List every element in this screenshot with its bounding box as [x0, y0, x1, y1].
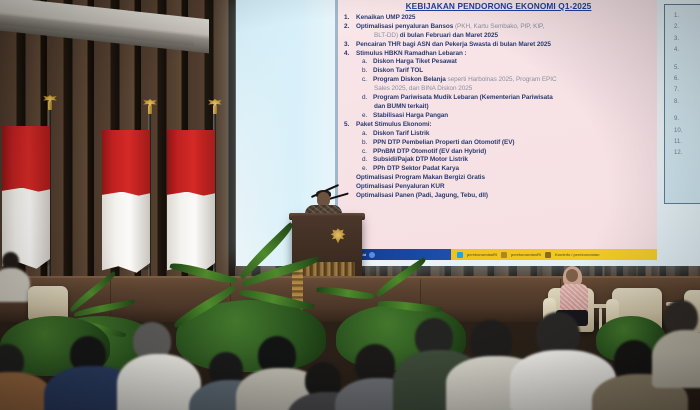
slide-sublist-continuation: dan BUMN terkait)	[344, 103, 653, 112]
youtube-handle: Kominfo / perekonomian	[555, 252, 600, 257]
flag-finial-icon	[143, 99, 157, 114]
side-number: 12.	[674, 148, 700, 159]
slide-list-item: 1. Kenaikan UMP 2025	[344, 14, 653, 23]
attendee-shoulders	[117, 354, 201, 410]
photo-scene: KEBIJAKAN PENDORONG EKONOMI Q1-2025 1. K…	[0, 0, 700, 410]
flag-cloth	[167, 130, 215, 270]
sublist-letter: a.	[362, 130, 373, 139]
instagram-handle: perekonomianRI	[511, 252, 541, 257]
sublist-letter: d.	[362, 94, 373, 103]
flag-white-band	[102, 192, 150, 273]
presentation-slide: KEBIJAKAN PENDORONG EKONOMI Q1-2025 1. K…	[335, 0, 657, 249]
attendee-shoulders	[0, 268, 30, 302]
slide-list-item: 2. Optimalisasi penyaluran Bansos (PKH, …	[344, 23, 653, 32]
side-number: 3.	[674, 34, 700, 45]
sublist-text: PPh DTP Sektor Padat Karya	[373, 165, 653, 174]
sublist-text: Subsidi/Pajak DTP Motor Listrik	[373, 156, 653, 165]
slide-title: KEBIJAKAN PENDORONG EKONOMI Q1-2025	[344, 2, 653, 11]
slide-trailing-line: Optimalisasi Penyaluran KUR	[344, 183, 653, 192]
slide-footer-yellow: perekonomianRI perekonomianRI Kominfo / …	[451, 249, 657, 260]
slide-sublist-item: a. Diskon Tarif Listrik	[344, 130, 653, 139]
flag-white-band	[167, 192, 215, 273]
instagram-icon	[501, 252, 507, 258]
twitter-icon	[457, 252, 463, 258]
list-text: Kenaikan UMP 2025	[356, 14, 653, 23]
slide-trailing-line: Optimalisasi Program Makan Bergizi Grati…	[344, 174, 653, 183]
sublist-letter: b.	[362, 67, 373, 76]
side-number: 7.	[674, 85, 700, 96]
side-number: 8.	[674, 97, 700, 108]
youtube-icon	[545, 252, 551, 258]
seated-person-head	[566, 269, 578, 282]
list-text: Optimalisasi penyaluran Bansos	[356, 23, 453, 30]
sublist-letter: c.	[362, 148, 373, 157]
sublist-letter: e.	[362, 112, 373, 121]
list-text-muted: (PKH, Kartu Sembako, PIP, KIP,	[455, 23, 544, 30]
flag-cloth	[102, 130, 150, 270]
sublist-letter: d.	[362, 156, 373, 165]
slide-sublist-item: e. PPh DTP Sektor Padat Karya	[344, 165, 653, 174]
slide-list-continuation: BLT-DD) di bulan Februari dan Maret 2025	[344, 32, 653, 41]
slide-sublist-continuation: Sales 2025, dan BINA Diskon 2025	[344, 85, 653, 94]
slide-list-item: 4. Stimulus HBKN Ramadhan Lebaran :	[344, 50, 653, 59]
slide-list-item: 5. Paket Stimulus Ekonomi:	[344, 121, 653, 130]
list-number: 3.	[344, 41, 356, 50]
flag-finial-icon	[43, 95, 57, 110]
flag-red-band	[2, 126, 50, 192]
slide-footer-bar: ekon.go.id perekonomianRI perekonomianRI…	[335, 249, 657, 260]
list-number: 4.	[344, 50, 356, 59]
sublist-text: Diskon Harga Tiket Pesawat	[373, 58, 653, 67]
attendee-head	[664, 300, 698, 334]
slide-sublist-item: b. Diskon Tarif TOL	[344, 67, 653, 76]
slide-sublist-item: d. Subsidi/Pajak DTP Motor Listrik	[344, 156, 653, 165]
slide-sublist-item: c. PPnBM DTP Otomotif (EV dan Hybrid)	[344, 148, 653, 157]
sublist-text-muted: seperti Harbolnas 2025, Program EPIC	[448, 76, 557, 83]
slide-sublist-item: b. PPN DTP Pembelian Properti dan Otomot…	[344, 139, 653, 148]
sublist-text-muted: Sales 2025, dan BINA Diskon 2025	[374, 85, 472, 92]
side-number: 5.	[674, 63, 700, 74]
side-number: 2.	[674, 22, 700, 33]
side-number: 9.	[674, 114, 700, 125]
list-text-muted: BLT-DD)	[374, 32, 398, 39]
list-text: Pencairan THR bagi ASN dan Pekerja Swast…	[356, 41, 653, 50]
sublist-text: PPN DTP Pembelian Properti dan Otomotif …	[373, 139, 653, 148]
slide-list-item: 3. Pencairan THR bagi ASN dan Pekerja Sw…	[344, 41, 653, 50]
slide-sublist-item: c. Program Diskon Belanja seperti Harbol…	[344, 76, 653, 85]
list-number: 5.	[344, 121, 356, 130]
side-number: 4.	[674, 45, 700, 56]
slide-sublist-item: a. Diskon Harga Tiket Pesawat	[344, 58, 653, 67]
slide-side-number-panel: 1. 2. 3. 4. 5. 6. 7. 8. 9. 10. 11. 12.	[664, 4, 700, 204]
sublist-text: PPnBM DTP Otomotif (EV dan Hybrid)	[373, 148, 653, 157]
slide-trailing-line: Optimalisasi Panen (Padi, Jagung, Tebu, …	[344, 192, 653, 201]
list-number: 2.	[344, 23, 356, 32]
list-number: 1.	[344, 14, 356, 23]
list-text: di bulan Februari dan Maret 2025	[400, 32, 498, 39]
list-text: Stimulus HBKN Ramadhan Lebaran :	[356, 50, 653, 59]
sublist-text: Program Pariwisata Mudik Lebaran (Kement…	[373, 94, 653, 103]
side-number: 11.	[674, 137, 700, 148]
sublist-letter: a.	[362, 58, 373, 67]
side-number: 6.	[674, 74, 700, 85]
slide-sublist-item: e. Stabilisasi Harga Pangan	[344, 112, 653, 121]
armchair	[28, 286, 68, 320]
flag-red-band	[167, 130, 215, 196]
sublist-letter: b.	[362, 139, 373, 148]
twitter-handle: perekonomianRI	[467, 252, 497, 257]
dado-seam	[110, 279, 111, 319]
sublist-text: Diskon Tarif TOL	[373, 67, 653, 76]
sublist-text: Program Diskon Belanja	[373, 76, 446, 83]
attendee-shoulders	[652, 330, 700, 388]
flag-cloth	[2, 126, 50, 266]
sublist-letter: c.	[362, 76, 373, 85]
side-number: 10.	[674, 126, 700, 137]
flag-finial-icon	[208, 99, 222, 114]
sublist-letter: e.	[362, 165, 373, 174]
flag-red-band	[102, 130, 150, 196]
list-text: Paket Stimulus Ekonomi:	[356, 121, 653, 130]
side-number: 1.	[674, 11, 700, 22]
sublist-text: Diskon Tarif Listrik	[373, 130, 653, 139]
sublist-text: Stabilisasi Harga Pangan	[373, 112, 653, 121]
slide-sublist-item: d. Program Pariwisata Mudik Lebaran (Kem…	[344, 94, 653, 103]
facebook-icon	[369, 252, 375, 258]
